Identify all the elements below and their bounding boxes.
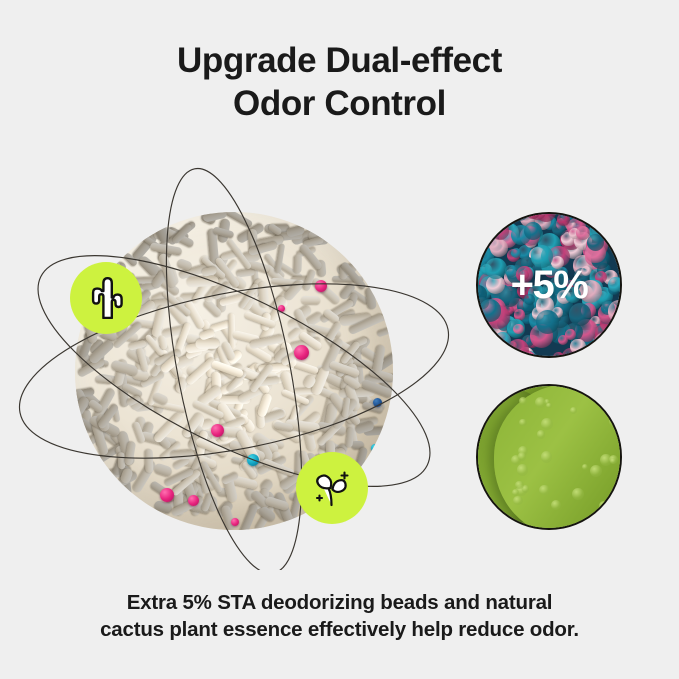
caption-line-2: cactus plant essence effectively help re… [0, 616, 679, 643]
cactus-pad-photo [476, 384, 622, 530]
badge-sprout [296, 452, 368, 524]
hero-composition [8, 140, 458, 570]
sta-deodorizing-beads-photo: +5% [476, 212, 622, 358]
headline-line-1: Upgrade Dual-effect [0, 40, 679, 83]
cactus-icon [86, 277, 126, 319]
plus-five-percent-label: +5% [478, 214, 620, 356]
headline-line-2: Odor Control [0, 83, 679, 126]
sprout-sparkle-icon [311, 467, 353, 509]
product-feature-infographic: Upgrade Dual-effect Odor Control [0, 0, 679, 679]
caption-line-1: Extra 5% STA deodorizing beads and natur… [0, 589, 679, 616]
page-title: Upgrade Dual-effect Odor Control [0, 40, 679, 125]
cactus-pad-image [476, 384, 622, 530]
badge-cactus [70, 262, 142, 334]
caption: Extra 5% STA deodorizing beads and natur… [0, 589, 679, 643]
